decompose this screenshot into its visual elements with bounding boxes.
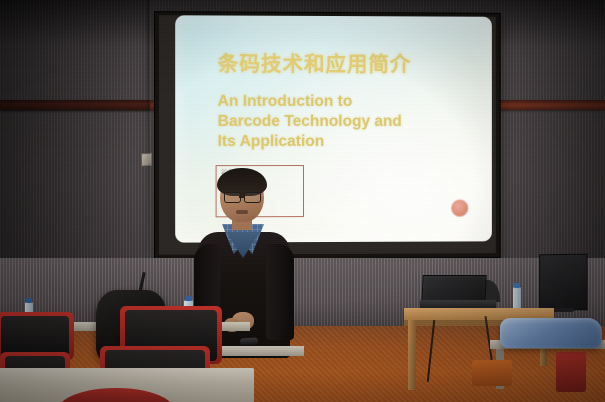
presenter-desk-leg-left xyxy=(408,320,416,390)
presentation-remote[interactable] xyxy=(240,337,258,345)
water-bottle-middle-cap xyxy=(185,296,192,301)
wall-wood-stripe-left xyxy=(0,100,150,110)
water-bottle-desk-cap xyxy=(514,283,520,288)
glasses-bridge-icon xyxy=(239,196,244,198)
water-bottle-left-cap xyxy=(26,298,32,303)
light-switch-icon[interactable] xyxy=(141,153,152,167)
monitor xyxy=(539,254,588,311)
presenter-mouth xyxy=(236,210,248,214)
slide-title-english-line-3: Its Application xyxy=(218,132,402,152)
slide-accent-circle-icon xyxy=(451,200,468,217)
chair-right-red xyxy=(556,352,586,392)
presenter-arm-right xyxy=(266,244,294,340)
water-bottle-desk xyxy=(513,287,521,309)
slide-title-english-line-1: An Introduction to xyxy=(218,92,402,112)
slide-title-english: An Introduction to Barcode Technology an… xyxy=(218,92,402,152)
chair-backrest-pad xyxy=(1,316,69,357)
glasses-lens-right-icon xyxy=(244,192,261,203)
front-desk-surface xyxy=(218,346,304,356)
slide-title-chinese: 条码技术和应用简介 xyxy=(218,47,412,78)
chair-right-orange xyxy=(472,360,512,386)
lecture-room-photo: 条码技术和应用简介 An Introduction to Barcode Tec… xyxy=(0,0,605,402)
slide-title-english-line-2: Barcode Technology and xyxy=(218,112,402,132)
blue-plastic-bag xyxy=(500,318,602,348)
